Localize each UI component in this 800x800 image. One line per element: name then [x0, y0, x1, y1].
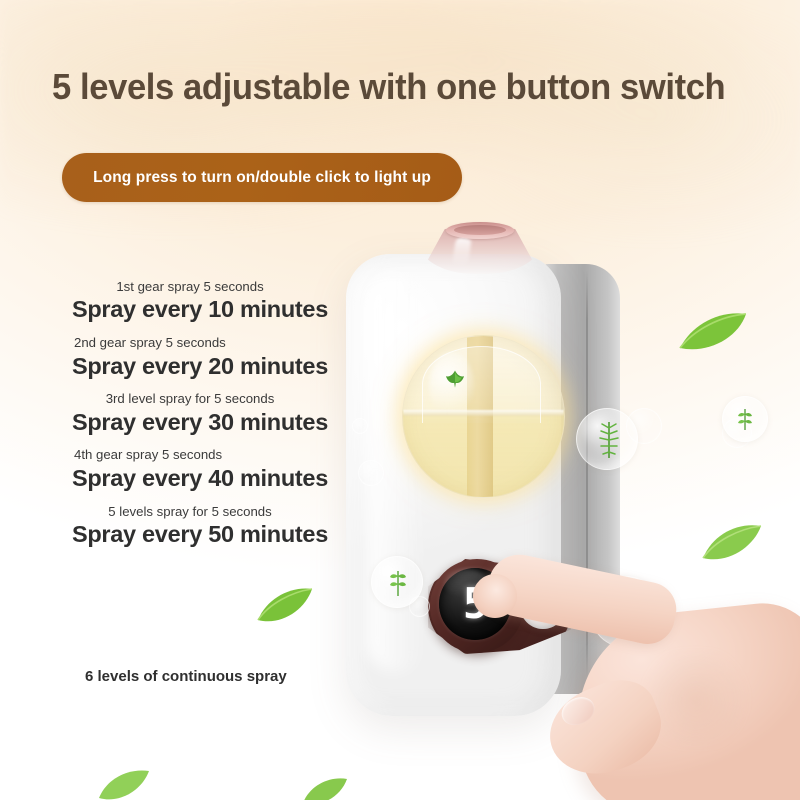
instruction-banner[interactable]: Long press to turn on/double click to li… [62, 153, 462, 202]
leaf-icon [96, 766, 152, 800]
feature-interval-label: Spray every 30 minutes [72, 409, 340, 437]
bubble-small [352, 418, 368, 434]
feature-interval-label: Spray every 10 minutes [72, 296, 340, 324]
feature-interval-label: Spray every 50 minutes [72, 521, 340, 549]
continuous-spray-label: 6 levels of continuous spray [85, 668, 287, 685]
mist-nozzle [420, 218, 540, 274]
feature-gear-label: 5 levels spray for 5 seconds [86, 503, 294, 520]
list-item: 4th gear spray 5 seconds Spray every 40 … [72, 446, 340, 492]
feature-gear-label: 3rd level spray for 5 seconds [86, 390, 294, 407]
feature-gear-label: 4th gear spray 5 seconds [72, 446, 312, 463]
feature-interval-label: Spray every 40 minutes [72, 465, 340, 493]
leaf-icon [300, 774, 350, 800]
bubble-small [358, 460, 384, 486]
mint-sprig-icon [385, 568, 411, 598]
mint-leaf-icon [438, 368, 472, 396]
product-promo-image: 5 levels adjustable with one button swit… [0, 0, 800, 800]
feature-interval-label: Spray every 20 minutes [72, 353, 340, 381]
instruction-banner-label: Long press to turn on/double click to li… [93, 169, 431, 187]
list-item: 2nd gear spray 5 seconds Spray every 20 … [72, 334, 340, 380]
list-item: 3rd level spray for 5 seconds Spray ever… [72, 390, 340, 436]
leaf-icon [255, 584, 315, 628]
rosemary-sprig-icon [594, 420, 624, 460]
feature-gear-label: 1st gear spray 5 seconds [86, 278, 294, 295]
sprig-icon [734, 406, 756, 432]
list-item: 5 levels spray for 5 seconds Spray every… [72, 503, 340, 549]
feature-gear-label: 2nd gear spray 5 seconds [72, 334, 312, 351]
list-item: 1st gear spray 5 seconds Spray every 10 … [72, 278, 340, 324]
feature-list: 1st gear spray 5 seconds Spray every 10 … [72, 278, 340, 559]
leaf-icon [676, 308, 750, 356]
page-title: 5 levels adjustable with one button swit… [52, 66, 724, 108]
nozzle-opening [454, 225, 506, 235]
water-tank-window [402, 335, 565, 498]
hand-pressing-button [485, 558, 800, 800]
